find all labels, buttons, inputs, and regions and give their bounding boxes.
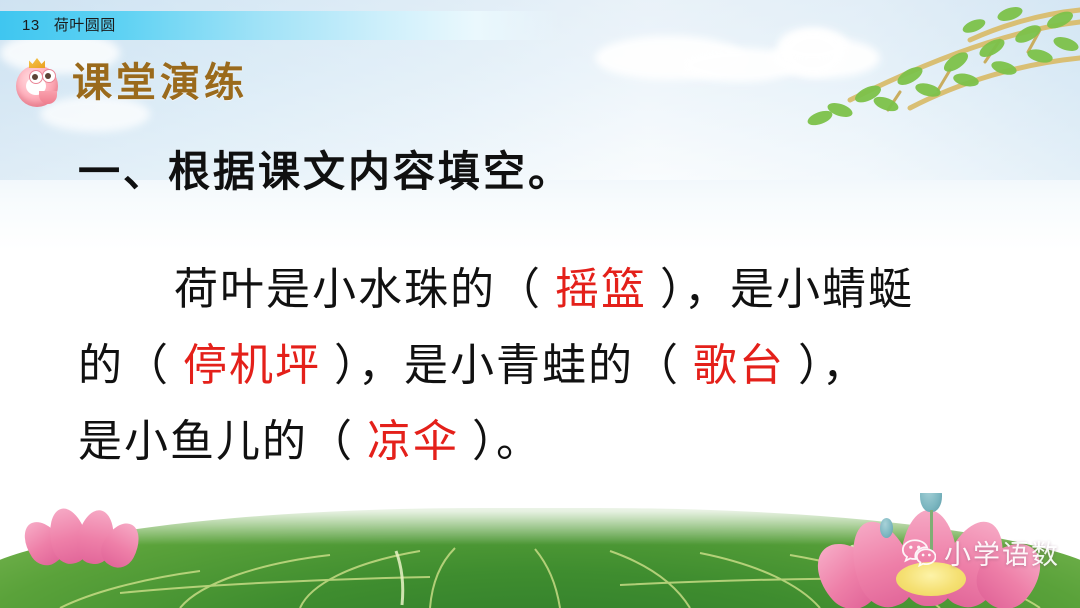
lotus-scene: 小学语数 (0, 493, 1080, 608)
lotus-bud-small (880, 518, 893, 538)
text-line-1: 荷叶是小水珠的（ 摇篮 ），是小蜻蜓 (78, 252, 1028, 328)
line-2-suffix: ）， (785, 341, 868, 390)
answer-yaolan: 摇篮 (555, 265, 647, 314)
answer-liangsan: 凉伞 (367, 417, 459, 466)
answer-getai: 歌台 (693, 341, 785, 390)
question-heading: 一、根据课文内容填空。 (78, 138, 573, 199)
mascot-eye-right (42, 69, 56, 83)
watermark-text: 小学语数 (944, 533, 1060, 572)
line-3-prefix: 是小鱼儿的（ (78, 417, 367, 466)
fill-in-blank-text: 荷叶是小水珠的（ 摇篮 ），是小蜻蜓 的（ 停机坪 ），是小青蛙的（ 歌台 ），… (78, 252, 1028, 480)
line-3-suffix: ）。 (459, 417, 542, 466)
lesson-label: 13荷叶圆圆 (22, 12, 116, 40)
answer-tingjiping: 停机坪 (183, 341, 321, 390)
slide-canvas: 13荷叶圆圆 课堂演练 一、根据课文内容填空。 荷叶是小水珠的（ 摇篮 ），是小… (0, 0, 1080, 608)
wechat-icon (902, 538, 936, 568)
line-2-middle: ），是小青蛙的（ (321, 341, 693, 390)
lotus-flower-decoration (20, 504, 160, 566)
tree-branch-decoration (760, 0, 1080, 150)
text-line-2: 的（ 停机坪 ），是小青蛙的（ 歌台 ）， (78, 328, 1028, 404)
line-2-prefix: 的（ (78, 341, 183, 390)
watermark: 小学语数 (902, 533, 1060, 572)
lesson-number: 13 (22, 17, 40, 34)
q-mascot-icon (14, 57, 62, 109)
text-line-3: 是小鱼儿的（ 凉伞 ）。 (78, 404, 1028, 480)
mascot-tail (39, 91, 57, 104)
lesson-title: 荷叶圆圆 (54, 17, 116, 34)
mascot-eye-left (29, 70, 43, 84)
line-1-prefix: 荷叶是小水珠的（ (174, 265, 555, 314)
line-1-suffix: ），是小蜻蜓 (647, 265, 914, 314)
crown-icon (29, 58, 45, 68)
section-title: 课堂演练 (72, 57, 248, 109)
